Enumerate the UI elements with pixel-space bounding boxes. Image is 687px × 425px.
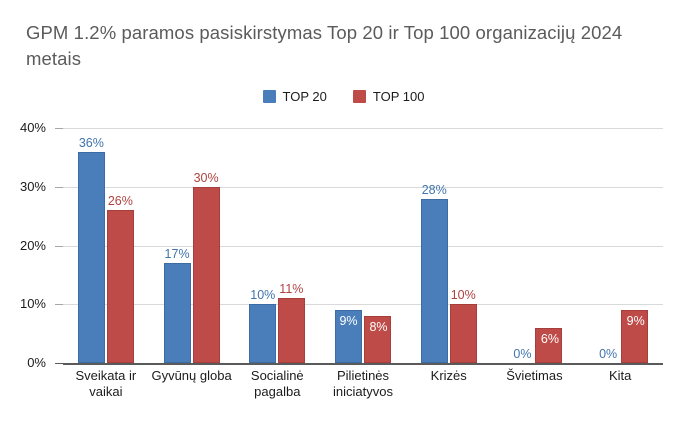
bar-red[interactable] [450, 304, 477, 363]
y-axis-tick-mark [55, 304, 63, 305]
chart-title: GPM 1.2% paramos pasiskirstymas Top 20 i… [26, 20, 646, 72]
bar-group: 10%11% [234, 128, 320, 363]
y-axis-tick-label: 30% [0, 179, 46, 194]
legend-item-top100[interactable]: TOP 100 [353, 89, 425, 104]
y-axis-tick-label: 0% [0, 355, 46, 370]
bar-value-label: 11% [279, 282, 303, 296]
y-axis-tick-mark [55, 187, 63, 188]
y-axis-tick-label: 20% [0, 238, 46, 253]
bar-value-label: 10% [250, 288, 275, 302]
bar-value-label: 26% [108, 194, 133, 208]
x-axis-line [63, 363, 663, 365]
bar-value-label: 10% [451, 288, 476, 302]
legend-swatch-top100 [353, 90, 366, 103]
bar-value-label: 8% [366, 320, 391, 334]
bar-value-label: 30% [194, 171, 219, 185]
bar-group: 0%9% [577, 128, 663, 363]
bar-group: 17%30% [149, 128, 235, 363]
legend-item-top20[interactable]: TOP 20 [263, 89, 327, 104]
bar-red[interactable] [107, 210, 134, 363]
category-label: Kita [577, 368, 663, 400]
category-label: Švietimas [492, 368, 578, 400]
y-axis-tick-label: 10% [0, 296, 46, 311]
y-axis-tick-mark [55, 128, 63, 129]
category-label: Gyvūnų globa [149, 368, 235, 400]
y-axis-tick-label: 40% [0, 120, 46, 135]
bar-value-label: 9% [623, 314, 648, 328]
category-label: Krizės [406, 368, 492, 400]
bar-blue[interactable] [421, 199, 448, 364]
bar-group: 0%6% [492, 128, 578, 363]
legend-label-top100: TOP 100 [373, 89, 425, 104]
legend-swatch-top20 [263, 90, 276, 103]
bar-blue[interactable] [249, 304, 276, 363]
bar-group: 36%26% [63, 128, 149, 363]
bar-group: 28%10% [406, 128, 492, 363]
y-axis-tick-mark [55, 246, 63, 247]
bar-value-label: 6% [537, 332, 562, 346]
y-axis-tick-mark [55, 363, 63, 364]
bar-red[interactable] [278, 298, 305, 363]
category-axis-labels: Sveikata ir vaikaiGyvūnų globaSocialinė … [63, 368, 663, 400]
bar-blue[interactable] [78, 152, 105, 364]
legend-label-top20: TOP 20 [283, 89, 327, 104]
bar-group: 9%8% [320, 128, 406, 363]
category-label: Pilietinės iniciatyvos [320, 368, 406, 400]
bar-value-label: 36% [79, 136, 104, 150]
bar-value-label: 9% [336, 314, 361, 328]
category-label: Socialinė pagalba [234, 368, 320, 400]
bar-value-label: 0% [513, 347, 531, 361]
bar-red[interactable] [193, 187, 220, 363]
category-label: Sveikata ir vaikai [63, 368, 149, 400]
chart-legend: TOP 20 TOP 100 [0, 89, 687, 104]
bar-blue[interactable] [164, 263, 191, 363]
bar-groups: 36%26%17%30%10%11%9%8%28%10%0%6%0%9% [63, 128, 663, 363]
bar-value-label: 17% [165, 247, 190, 261]
bar-value-label: 0% [599, 347, 617, 361]
bar-value-label: 28% [422, 183, 447, 197]
